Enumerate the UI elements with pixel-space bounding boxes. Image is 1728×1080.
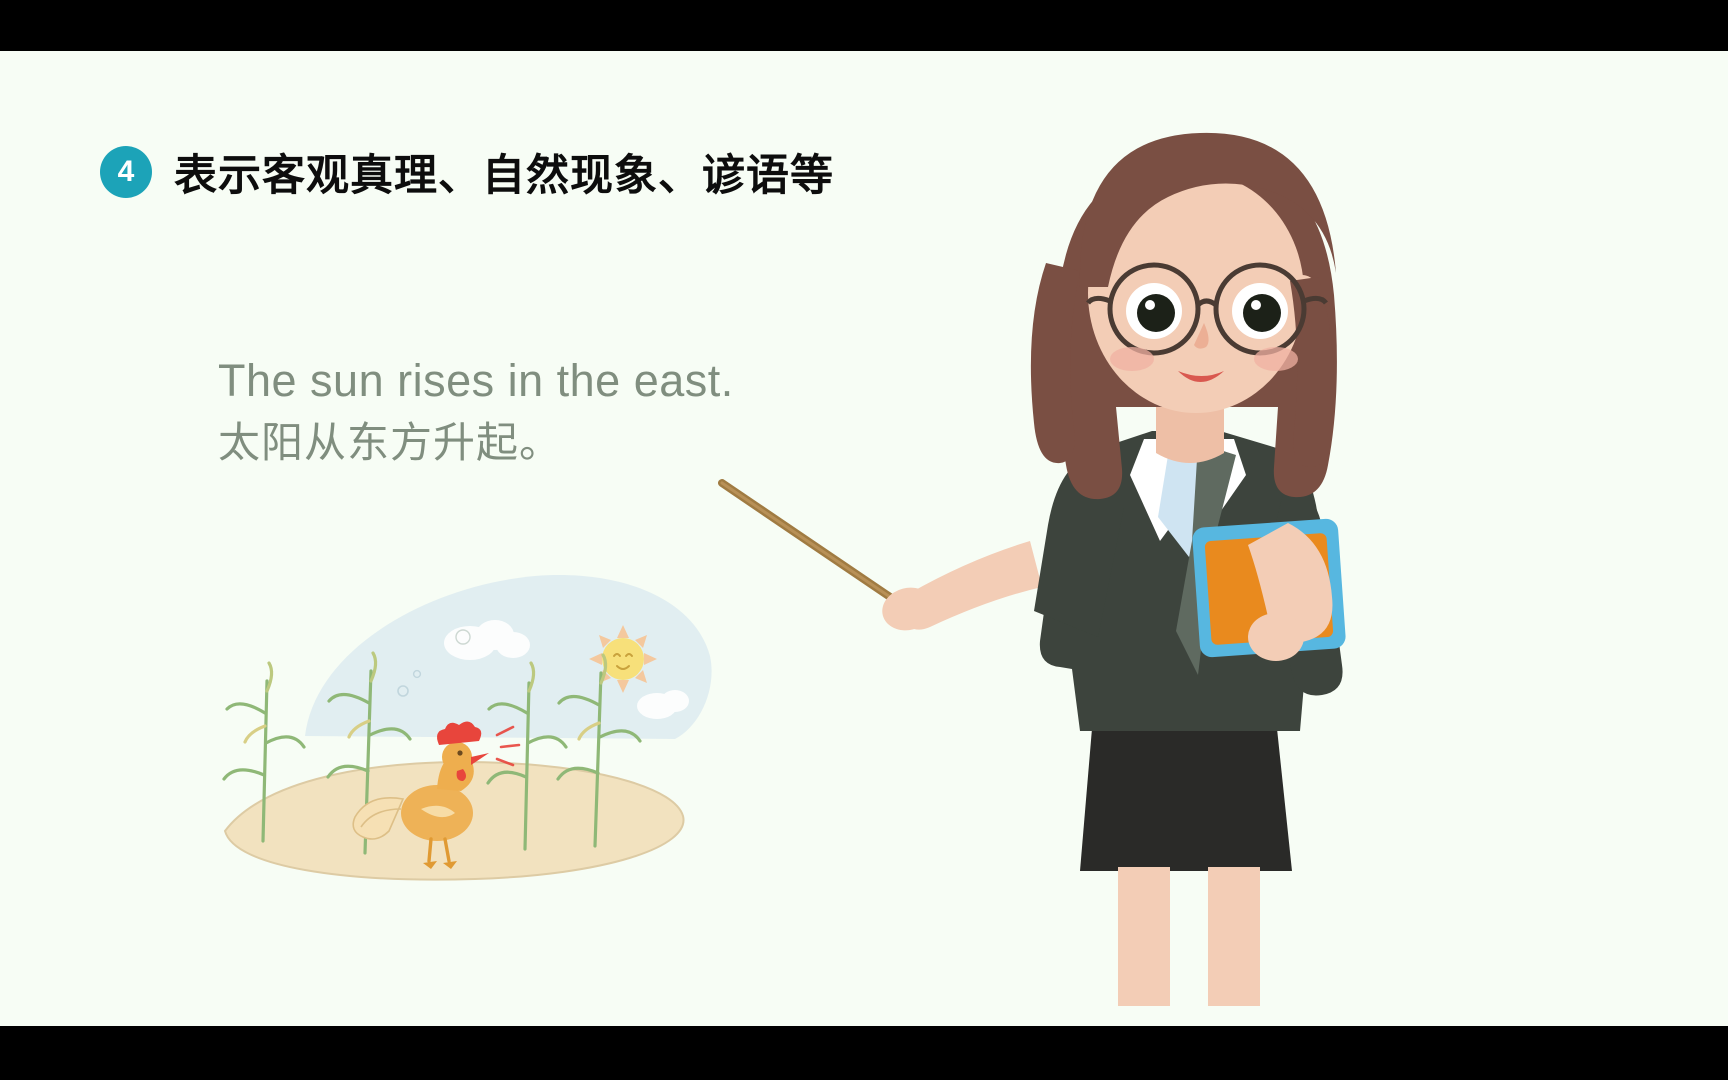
example-sentence-block: The sun rises in the east. 太阳从东方升起。: [218, 353, 734, 470]
blush-left: [1110, 347, 1154, 371]
leg-left: [1118, 867, 1170, 1006]
example-sentence-english: The sun rises in the east.: [218, 353, 734, 409]
leg-right: [1208, 867, 1260, 1006]
blush-right: [1254, 347, 1298, 371]
slide-canvas: 4 表示客观真理、自然现象、谚语等 The sun rises in the e…: [0, 51, 1728, 1026]
example-sentence-chinese: 太阳从东方升起。: [218, 417, 734, 470]
letterbox-top: [0, 0, 1728, 51]
letterbox-bottom: [0, 1026, 1728, 1080]
pointer-stick: [722, 483, 896, 601]
cartoon-teacher: [700, 71, 1400, 1006]
step-number-badge: 4: [100, 146, 152, 198]
slide-stage: 4 表示客观真理、自然现象、谚语等 The sun rises in the e…: [0, 0, 1728, 1080]
farm-sunrise-illustration: [205, 531, 725, 891]
holding-hand: [1248, 613, 1304, 661]
